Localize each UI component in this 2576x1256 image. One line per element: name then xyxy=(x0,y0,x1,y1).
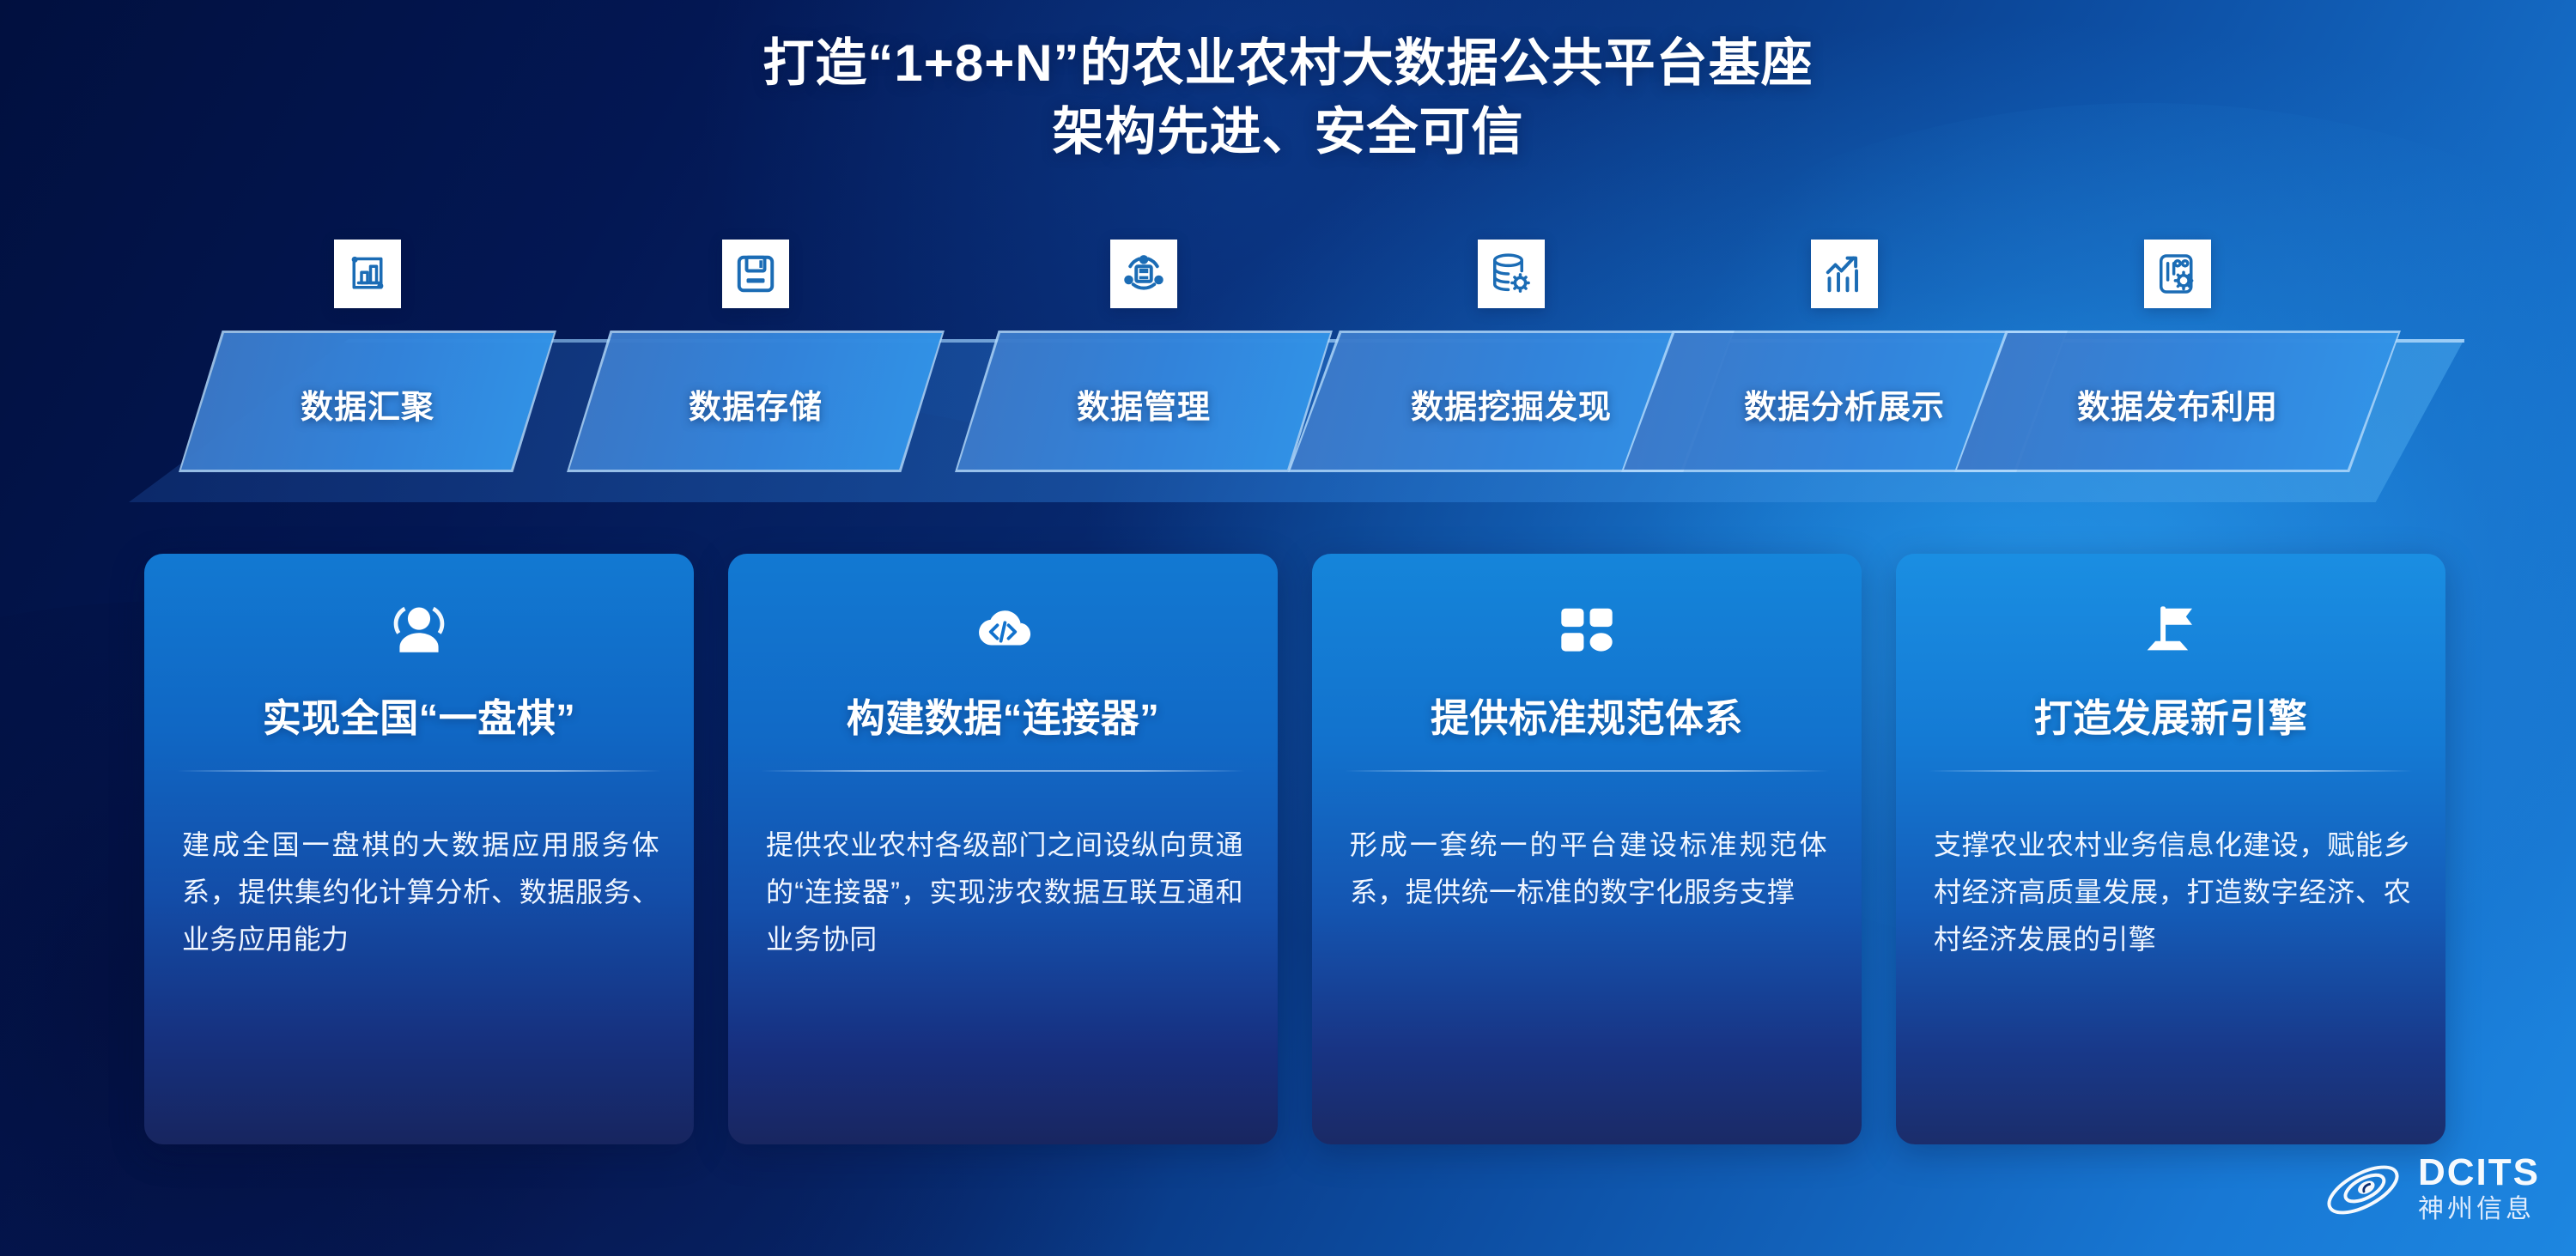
trend-chart-icon xyxy=(1811,240,1878,308)
logo-name-en: DCITS xyxy=(2418,1154,2540,1192)
process-step-data-publishing[interactable]: 数据发布利用 xyxy=(1954,331,2401,472)
step-label: 数据管理 xyxy=(955,380,1333,428)
page-title: 打造“1+8+N”的农业农村大数据公共平台基座 架构先进、安全可信 xyxy=(0,29,2576,167)
card-body: 形成一套统一的平台建设标准规范体系，提供统一标准的数字化服务支撑 xyxy=(1350,822,1827,916)
flag-icon xyxy=(1896,597,2445,667)
process-step-data-storage[interactable]: 数据存储 xyxy=(567,331,945,472)
card-body: 建成全国一盘棋的大数据应用服务体系，提供集约化计算分析、数据服务、业务应用能力 xyxy=(182,822,659,963)
card-title: 打造发展新引擎 xyxy=(1896,687,2445,743)
card-divider xyxy=(1929,770,2413,772)
process-step-data-management[interactable]: 数据管理 xyxy=(955,331,1333,472)
org-network-icon xyxy=(1110,240,1177,308)
card-body: 提供农业农村各级部门之间设纵向贯通的“连接器”，实现涉农数据互联互通和业务协同 xyxy=(766,822,1243,963)
logo-wordmark: DCITS 神州信息 xyxy=(2418,1154,2540,1225)
card-body: 支撑农业农村业务信息化建设，赋能乡村经济高质量发展，打造数字经济、农村经济发展的… xyxy=(1934,822,2411,963)
database-gear-icon xyxy=(1478,240,1545,308)
title-line-1: 打造“1+8+N”的农业农村大数据公共平台基座 xyxy=(762,34,1813,92)
step-label: 数据存储 xyxy=(567,380,945,428)
feature-card-growth-engine[interactable]: 打造发展新引擎 支撑农业农村业务信息化建设，赋能乡村经济高质量发展，打造数字经济… xyxy=(1896,554,2445,1144)
cloud-code-icon xyxy=(728,597,1278,667)
slide-canvas: 打造“1+8+N”的农业农村大数据公共平台基座 架构先进、安全可信 数据汇 xyxy=(0,0,2576,1256)
feature-card-standard-system[interactable]: 提供标准规范体系 形成一套统一的平台建设标准规范体系，提供统一标准的数字化服务支… xyxy=(1312,554,1862,1144)
logo-name-cn: 神州信息 xyxy=(2418,1194,2540,1225)
device-gear-icon xyxy=(2144,240,2211,308)
process-step-row: 数据汇聚 数据存储 xyxy=(0,283,2576,515)
feature-card-row: 实现全国“一盘棋” 建成全国一盘棋的大数据应用服务体系，提供集约化计算分析、数据… xyxy=(0,554,2576,1146)
card-divider xyxy=(177,770,661,772)
step-label: 数据发布利用 xyxy=(1954,380,2401,428)
users-icon xyxy=(144,597,694,667)
feature-card-national-chess[interactable]: 实现全国“一盘棋” 建成全国一盘棋的大数据应用服务体系，提供集约化计算分析、数据… xyxy=(144,554,694,1144)
card-divider xyxy=(761,770,1245,772)
card-divider xyxy=(1345,770,1829,772)
grid-blocks-icon xyxy=(1312,597,1862,667)
title-line-2: 架构先进、安全可信 xyxy=(0,98,2576,167)
process-step-data-aggregation[interactable]: 数据汇聚 xyxy=(179,331,556,472)
card-title: 构建数据“连接器” xyxy=(728,687,1278,743)
card-title: 实现全国“一盘棋” xyxy=(144,687,694,743)
card-title: 提供标准规范体系 xyxy=(1312,687,1862,743)
floppy-disk-icon xyxy=(722,240,789,308)
dcits-swirl-icon xyxy=(2322,1159,2404,1221)
bar-chart-document-icon xyxy=(334,240,401,308)
company-logo: DCITS 神州信息 xyxy=(2322,1154,2540,1225)
step-label: 数据汇聚 xyxy=(179,380,556,428)
feature-card-data-connector[interactable]: 构建数据“连接器” 提供农业农村各级部门之间设纵向贯通的“连接器”，实现涉农数据… xyxy=(728,554,1278,1144)
